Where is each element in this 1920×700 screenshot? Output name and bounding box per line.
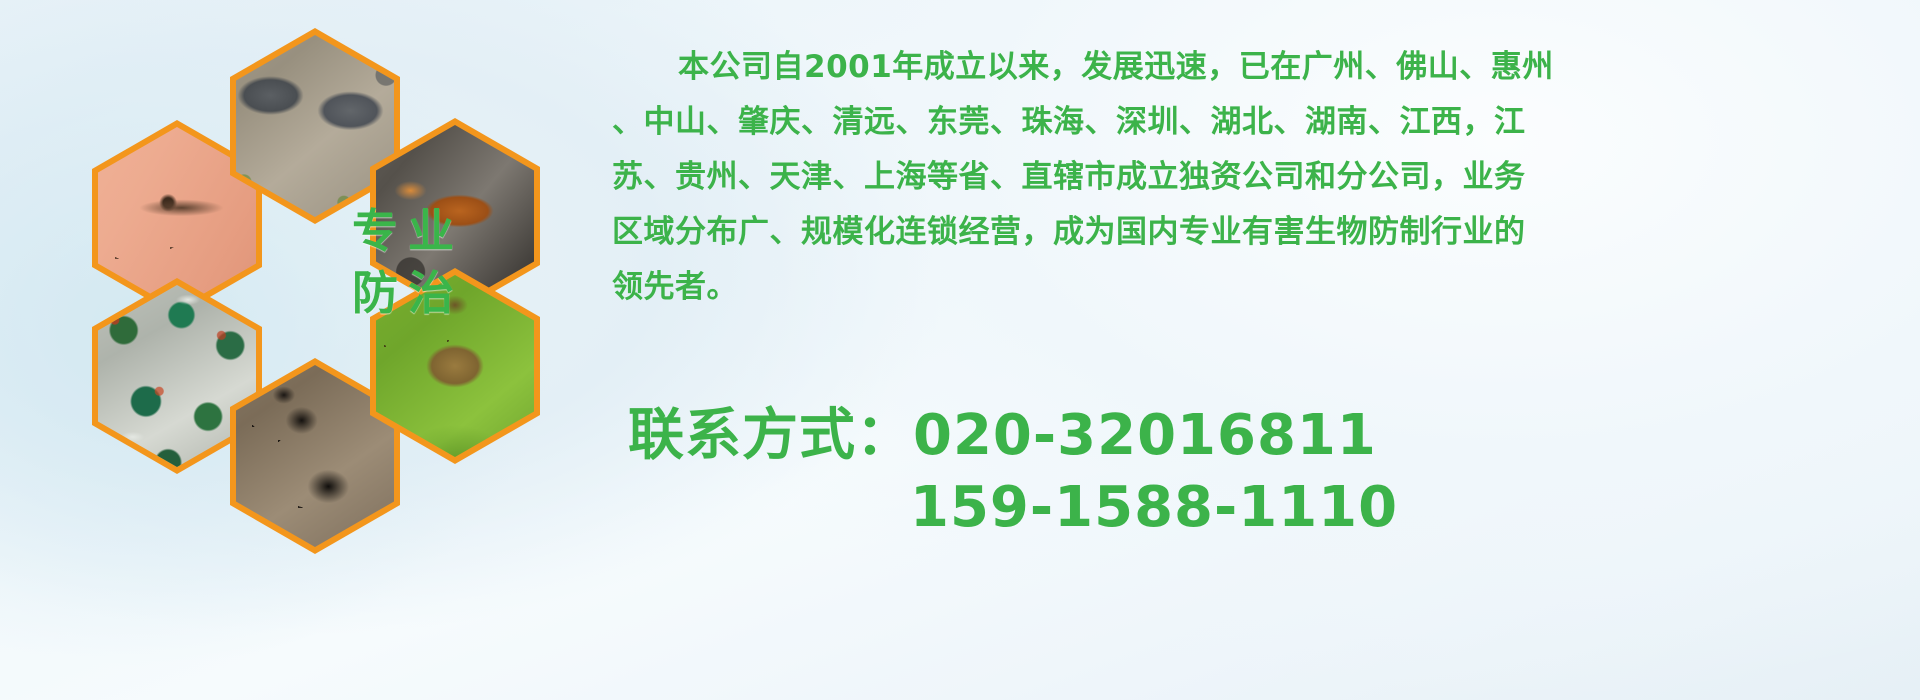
collage-headline: 专业 防治 xyxy=(318,200,488,324)
description-line-1: 本公司自2001年成立以来，发展迅速，已在广州、佛山、惠州 xyxy=(612,40,1902,95)
contact-phone-landline[interactable]: 联系方式：020-32016811 xyxy=(628,400,1828,472)
collage-headline-line-2: 防治 xyxy=(318,262,488,324)
contact-block: 联系方式：020-32016811 159-1588-1110 xyxy=(628,400,1828,544)
description-line-4: 区域分布广、规模化连锁经营，成为国内专业有害生物防制行业的 xyxy=(612,205,1902,260)
description-line-5: 领先者。 xyxy=(612,260,1902,315)
collage-headline-line-1: 专业 xyxy=(318,200,488,262)
company-description: 本公司自2001年成立以来，发展迅速，已在广州、佛山、惠州 、中山、肇庆、清远、… xyxy=(612,40,1902,315)
hexagon-photo-collage: 专业 防治 xyxy=(80,10,600,570)
promo-banner: 专业 防治 本公司自2001年成立以来，发展迅速，已在广州、佛山、惠州 、中山、… xyxy=(0,0,1920,700)
description-line-2: 、中山、肇庆、清远、东莞、珠海、深圳、湖北、湖南、江西，江 xyxy=(612,95,1902,150)
description-line-3: 苏、贵州、天津、上海等省、直辖市成立独资公司和分公司，业务 xyxy=(612,150,1902,205)
contact-phone-mobile[interactable]: 159-1588-1110 xyxy=(628,472,1828,544)
